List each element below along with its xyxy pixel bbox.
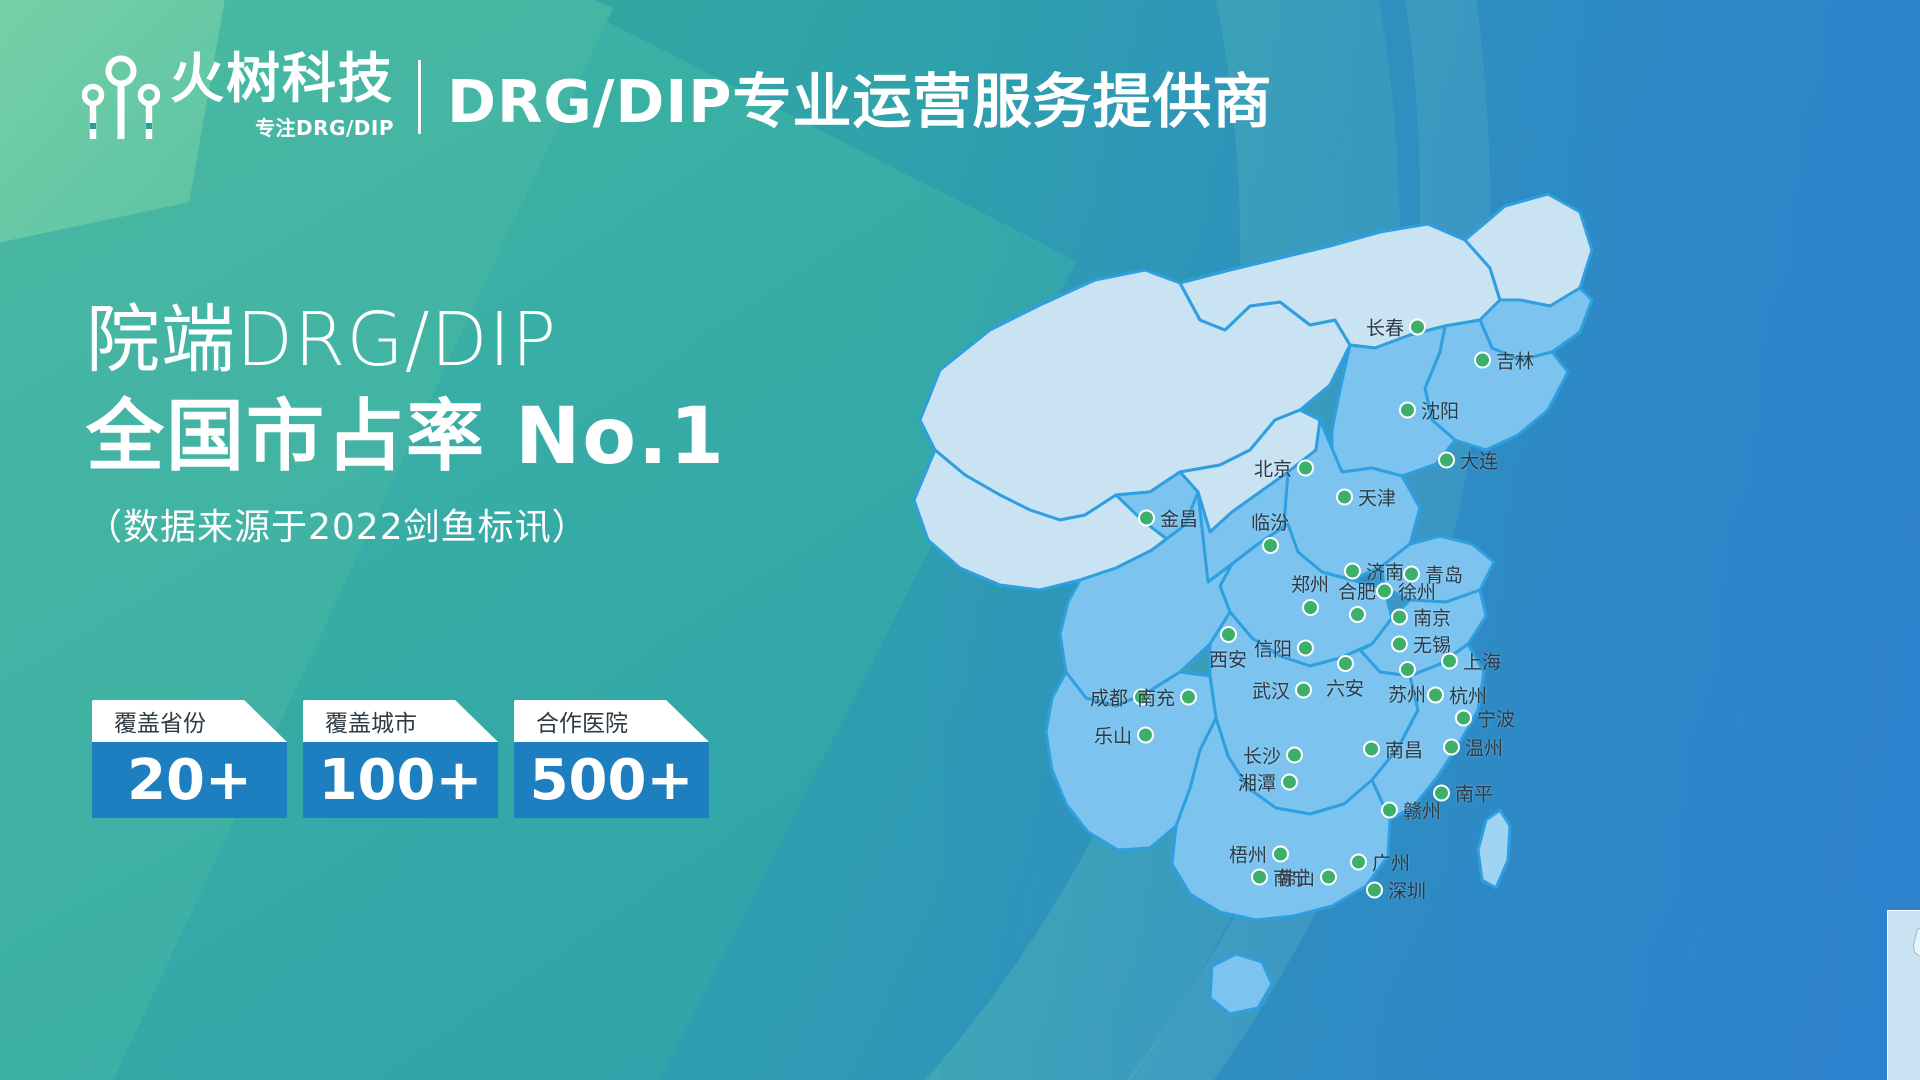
stat-card-group: 覆盖省份 20+ 覆盖城市 100+ 合作医院 500+ (92, 700, 709, 818)
city-dot-icon (1399, 402, 1416, 419)
city-marker[interactable]: 临汾 (1251, 508, 1289, 554)
city-dot-icon (1433, 785, 1450, 802)
poster-canvas: 火树科技 专注DRG/DIP DRG/DIP专业运营服务提供商 院端DRG/DI… (0, 0, 1920, 1080)
city-marker[interactable]: 长沙 (1243, 742, 1303, 769)
city-label: 南宁 (1273, 864, 1311, 891)
city-label: 大连 (1460, 447, 1498, 474)
city-dot-icon (1272, 846, 1289, 863)
stat-value: 20+ (127, 748, 252, 813)
city-marker[interactable]: 上海 (1441, 648, 1501, 675)
city-label: 吉林 (1496, 347, 1534, 374)
city-dot-icon (1261, 537, 1278, 554)
city-label: 长沙 (1243, 742, 1281, 769)
city-dot-icon (1427, 687, 1444, 704)
city-label: 临汾 (1251, 508, 1289, 535)
city-label: 信阳 (1254, 635, 1292, 662)
headline-source-note: （数据来源于2022剑鱼标讯） (86, 498, 726, 550)
city-dot-icon (1391, 636, 1408, 653)
city-marker[interactable]: 信阳 (1254, 635, 1314, 662)
city-dot-icon (1391, 609, 1408, 626)
city-label: 苏州 (1388, 680, 1426, 707)
stat-label: 合作医院 (536, 704, 628, 738)
city-marker[interactable]: 赣州 (1381, 797, 1441, 824)
city-marker[interactable]: 武汉 (1252, 677, 1312, 704)
city-marker[interactable]: 深圳 (1366, 877, 1426, 904)
headline-line-1: 院端DRG/DIP (86, 300, 726, 381)
city-dot-icon (1348, 606, 1365, 623)
stat-card-header: 覆盖省份 (92, 700, 287, 742)
city-marker[interactable]: 西安 (1209, 626, 1247, 672)
city-marker[interactable]: 南宁 (1251, 864, 1311, 891)
stat-card-cities: 覆盖城市 100+ (303, 700, 498, 818)
stat-card-body: 500+ (514, 742, 709, 818)
stat-value: 100+ (319, 748, 483, 813)
city-marker[interactable]: 金昌 (1138, 505, 1198, 532)
city-dot-icon (1443, 739, 1460, 756)
stat-card-provinces: 覆盖省份 20+ (92, 700, 287, 818)
city-label: 广州 (1372, 849, 1410, 876)
city-label: 深圳 (1388, 877, 1426, 904)
city-dot-icon (1297, 460, 1314, 477)
logo-divider (418, 60, 421, 134)
city-marker[interactable]: 乐山 (1094, 722, 1154, 749)
city-label: 沈阳 (1421, 397, 1459, 424)
city-label: 南昌 (1385, 736, 1423, 763)
city-dot-icon (1281, 774, 1298, 791)
city-label: 上海 (1463, 648, 1501, 675)
city-dot-icon (1350, 854, 1367, 871)
city-marker[interactable]: 宁波 (1455, 705, 1515, 732)
city-dot-icon (1286, 747, 1303, 764)
city-label: 南京 (1413, 604, 1451, 631)
city-marker[interactable]: 南昌 (1363, 736, 1423, 763)
city-dot-icon (1336, 655, 1353, 672)
circuit-tree-icon (82, 55, 160, 139)
city-label: 湘潭 (1238, 769, 1276, 796)
city-dot-icon (1137, 727, 1154, 744)
stat-label: 覆盖城市 (325, 704, 417, 738)
city-dot-icon (1438, 452, 1455, 469)
city-marker[interactable]: 北京 (1254, 455, 1314, 482)
inset-islands-icon (1888, 911, 1920, 1080)
city-label: 西安 (1209, 645, 1247, 672)
city-marker[interactable]: 郑州 (1291, 570, 1329, 616)
city-label: 乐山 (1094, 722, 1132, 749)
brand-slogan: DRG/DIP专业运营服务提供商 (447, 54, 1273, 139)
city-marker[interactable]: 温州 (1443, 734, 1503, 761)
city-marker[interactable]: 长春 (1366, 314, 1426, 341)
city-label: 郑州 (1291, 570, 1329, 597)
city-dot-icon (1409, 319, 1426, 336)
city-marker[interactable]: 南京 (1391, 604, 1451, 631)
stat-label: 覆盖省份 (114, 704, 206, 738)
city-dot-icon (1180, 689, 1197, 706)
city-label: 武汉 (1252, 677, 1290, 704)
city-dot-icon (1376, 583, 1393, 600)
city-dot-icon (1297, 640, 1314, 657)
brand-name: 火树科技 (170, 52, 394, 106)
city-label: 宁波 (1477, 705, 1515, 732)
city-marker[interactable]: 沈阳 (1399, 397, 1459, 424)
china-coverage-map: 长春吉林沈阳大连北京天津金昌济南青岛临汾西安郑州徐州合肥南京无锡上海苏州信阳六安… (880, 120, 1900, 1070)
city-dot-icon (1398, 661, 1415, 678)
city-marker[interactable]: 广州 (1350, 849, 1410, 876)
city-label: 徐州 (1398, 578, 1436, 605)
city-label: 北京 (1254, 455, 1292, 482)
city-marker[interactable]: 南充 (1137, 684, 1197, 711)
city-label: 成都 (1090, 684, 1128, 711)
city-marker[interactable]: 六安 (1326, 655, 1364, 701)
city-dot-icon (1301, 599, 1318, 616)
city-dot-icon (1474, 352, 1491, 369)
city-marker[interactable]: 苏州 (1388, 661, 1426, 707)
city-dot-icon (1219, 626, 1236, 643)
city-label: 温州 (1465, 734, 1503, 761)
city-dot-icon (1441, 653, 1458, 670)
stat-card-header: 合作医院 (514, 700, 709, 742)
city-marker[interactable]: 徐州 (1376, 578, 1436, 605)
city-marker[interactable]: 大连 (1438, 447, 1498, 474)
city-dot-icon (1381, 802, 1398, 819)
headline-line-2: 全国市占率 No.1 (86, 395, 726, 479)
city-label: 天津 (1358, 484, 1396, 511)
city-dot-icon (1295, 682, 1312, 699)
city-marker[interactable]: 湘潭 (1238, 769, 1298, 796)
stat-card-header: 覆盖城市 (303, 700, 498, 742)
city-dot-icon (1366, 882, 1383, 899)
brand-logo: 火树科技 专注DRG/DIP DRG/DIP专业运营服务提供商 (82, 52, 1273, 141)
city-dot-icon (1336, 489, 1353, 506)
city-dot-icon (1251, 869, 1268, 886)
city-label: 南充 (1137, 684, 1175, 711)
south-china-sea-inset (1887, 910, 1920, 1080)
brand-subtitle: 专注DRG/DIP (170, 112, 394, 141)
city-label: 合肥 (1338, 577, 1376, 604)
city-marker[interactable]: 南平 (1433, 780, 1493, 807)
city-dot-icon (1138, 510, 1155, 527)
city-label: 六安 (1326, 674, 1364, 701)
stat-value: 500+ (530, 748, 694, 813)
city-label: 金昌 (1160, 505, 1198, 532)
city-dot-icon (1455, 710, 1472, 727)
city-label: 长春 (1366, 314, 1404, 341)
stat-card-body: 20+ (92, 742, 287, 818)
city-marker[interactable]: 合肥 (1338, 577, 1376, 623)
city-marker[interactable]: 吉林 (1474, 347, 1534, 374)
city-marker[interactable]: 天津 (1336, 484, 1396, 511)
stat-card-body: 100+ (303, 742, 498, 818)
city-dot-icon (1363, 741, 1380, 758)
headline-block: 院端DRG/DIP 全国市占率 No.1 （数据来源于2022剑鱼标讯） (86, 300, 726, 550)
stat-card-hospitals: 合作医院 500+ (514, 700, 709, 818)
city-dot-icon (1320, 869, 1337, 886)
city-label: 南平 (1455, 780, 1493, 807)
